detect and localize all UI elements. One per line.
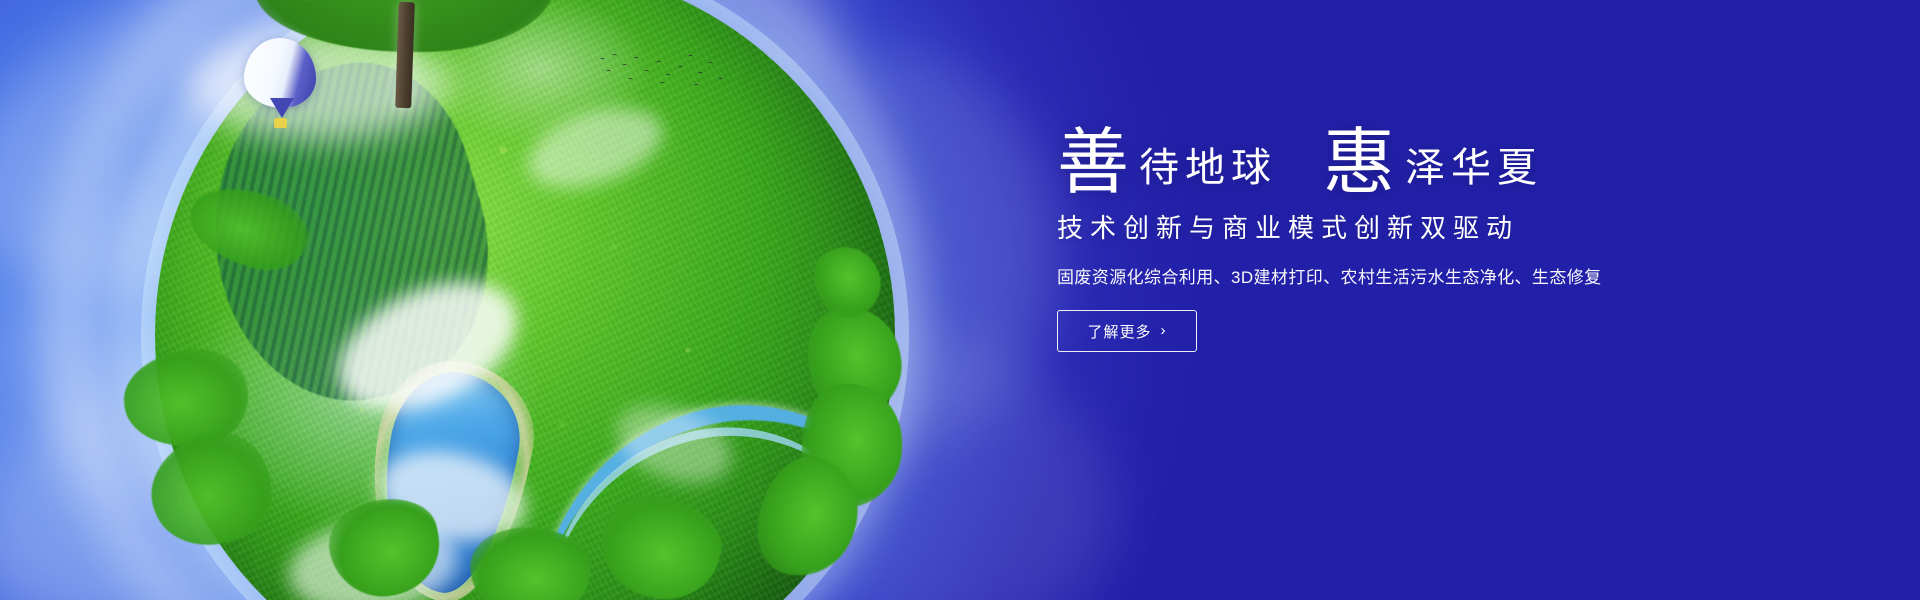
headline-char-1: 善 (1057, 126, 1129, 198)
tree-mist (190, 30, 450, 140)
headline-char-2: 惠 (1323, 126, 1395, 198)
hero-content: 善 待地球 惠 泽华夏 技术创新与商业模式创新双驱动 固废资源化综合利用、3D建… (1057, 120, 1697, 352)
page-title: 善 待地球 惠 泽华夏 (1057, 120, 1697, 192)
headline-text-2: 泽华夏 (1395, 148, 1543, 188)
page-description: 固废资源化综合利用、3D建材打印、农村生活污水生态净化、生态修复 (1057, 263, 1697, 288)
learn-more-button[interactable]: 了解更多 › (1057, 310, 1197, 352)
chevron-right-icon: › (1161, 323, 1167, 338)
hero-banner: 善 待地球 惠 泽华夏 技术创新与商业模式创新双驱动 固废资源化综合利用、3D建… (0, 0, 1920, 600)
page-subtitle: 技术创新与商业模式创新双驱动 (1057, 208, 1697, 245)
learn-more-label: 了解更多 (1087, 321, 1151, 342)
headline-text-1: 待地球 (1129, 148, 1277, 188)
